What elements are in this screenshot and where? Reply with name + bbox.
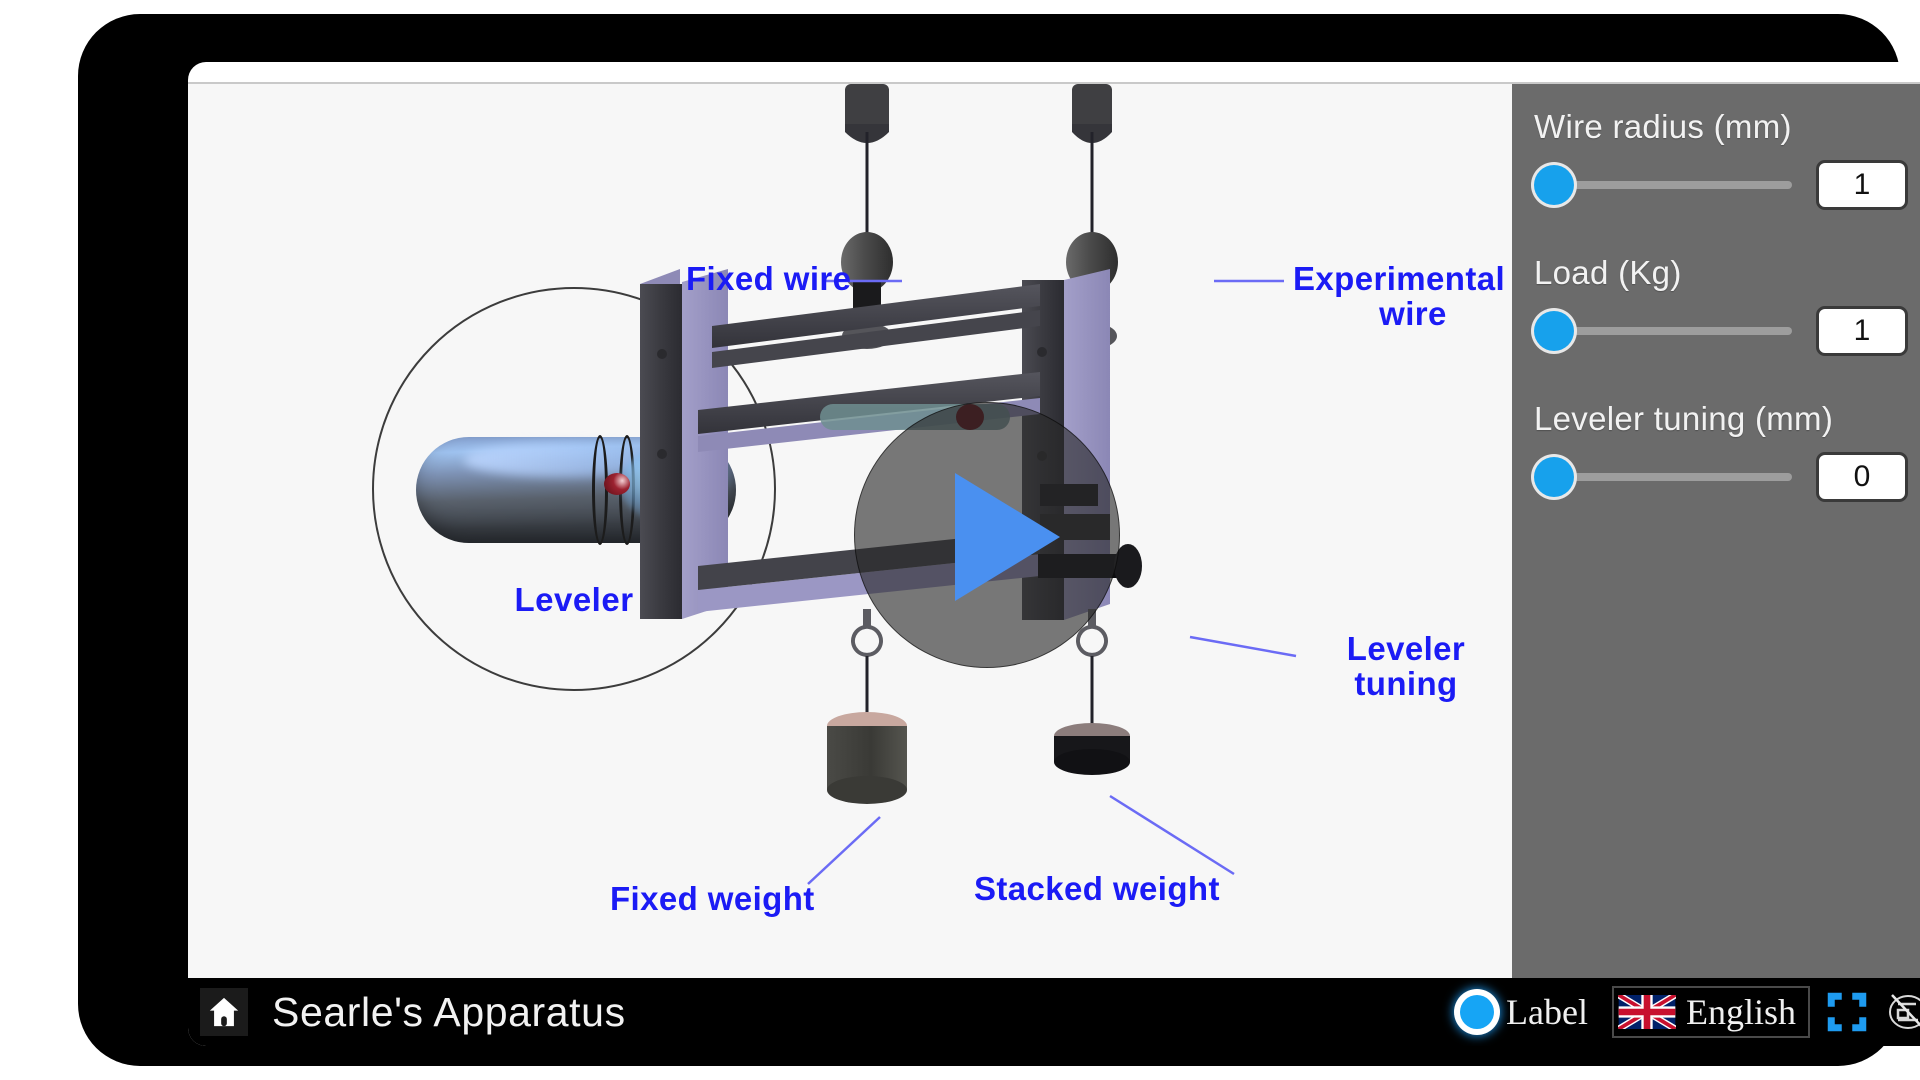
wire-radius-value-input[interactable] [1816, 160, 1908, 210]
fixed-weight [827, 712, 907, 804]
home-button[interactable] [200, 988, 248, 1036]
load-value-input[interactable] [1816, 306, 1908, 356]
screen-root: Leveler [0, 0, 1920, 1080]
load-slider[interactable] [1534, 311, 1792, 351]
slider-thumb[interactable] [1534, 165, 1574, 205]
uk-flag-icon [1618, 995, 1676, 1029]
callout-stacked-weight: Stacked weight [974, 872, 1220, 907]
fullscreen-button[interactable] [1826, 991, 1868, 1033]
bottom-toolbar: Searle's Apparatus Label [188, 978, 1920, 1046]
callout-fixed-wire: Fixed wire [686, 262, 851, 297]
slider-thumb[interactable] [1534, 311, 1574, 351]
no-watermark-icon [1884, 988, 1920, 1036]
slider-track [1548, 327, 1792, 335]
callout-leveler-tuning-line2: tuning [1354, 665, 1457, 702]
toolbar-right-group: Label English [1460, 986, 1920, 1038]
hook-left [853, 609, 881, 720]
callout-experimental-wire: Experimental wire [1293, 262, 1533, 331]
callout-leveler-tuning-line1: Leveler [1347, 630, 1465, 667]
label-toggle-text: Label [1506, 991, 1588, 1033]
control-panel: Wire radius (mm) Load (Kg) [1512, 84, 1920, 978]
no-watermark-button[interactable] [1884, 988, 1920, 1036]
callout-fixed-weight: Fixed weight [610, 882, 815, 917]
stacked-weight [1054, 723, 1130, 775]
simulation-stage: Leveler [188, 82, 1920, 978]
slider-thumb[interactable] [1534, 457, 1574, 497]
callout-experimental-wire-line1: Experimental [1293, 260, 1505, 297]
load-label: Load (Kg) [1534, 254, 1920, 292]
wire-radius-slider[interactable] [1534, 165, 1792, 205]
callout-experimental-wire-line2: wire [1293, 297, 1533, 332]
control-leveler-tuning: Leveler tuning (mm) [1534, 400, 1920, 504]
slider-track [1548, 473, 1792, 481]
fullscreen-icon [1826, 991, 1868, 1033]
control-wire-radius: Wire radius (mm) [1534, 108, 1920, 212]
label-toggle-radio-icon[interactable] [1460, 995, 1494, 1029]
device-screen: Leveler [188, 62, 1920, 1046]
leveler-tuning-value-input[interactable] [1816, 452, 1908, 502]
device-bezel: Leveler [78, 14, 1900, 1066]
language-text: English [1686, 991, 1796, 1033]
home-icon [207, 995, 241, 1029]
leveler-bubble [604, 473, 630, 495]
control-load: Load (Kg) [1534, 254, 1920, 358]
leveler-tuning-slider[interactable] [1534, 457, 1792, 497]
language-selector[interactable]: English [1612, 986, 1810, 1038]
callout-leveler-tuning: Leveler tuning [1306, 632, 1506, 701]
play-button[interactable] [854, 402, 1120, 668]
page-title: Searle's Apparatus [272, 989, 626, 1036]
wire-radius-label: Wire radius (mm) [1534, 108, 1920, 146]
slider-track [1548, 181, 1792, 189]
play-icon [955, 473, 1060, 601]
leveler-tuning-label: Leveler tuning (mm) [1534, 400, 1920, 438]
label-toggle[interactable]: Label [1460, 991, 1588, 1033]
